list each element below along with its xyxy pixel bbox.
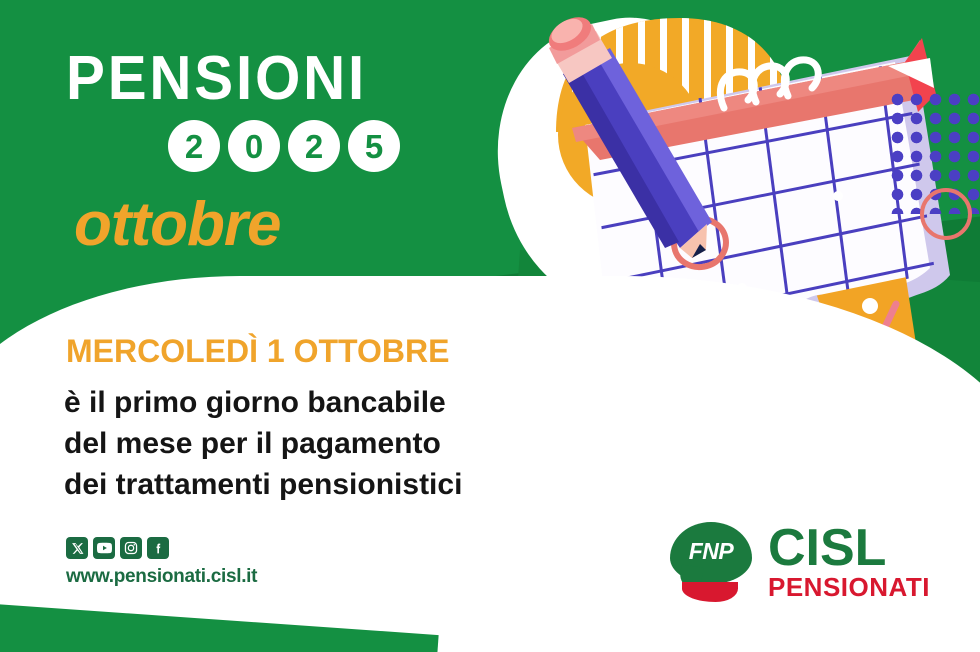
year-badges: 2 0 2 5 (168, 120, 400, 172)
youtube-icon[interactable] (93, 537, 115, 559)
body-line: è il primo giorno bancabile (64, 382, 462, 423)
headline-date: MERCOLEDÌ 1 OTTOBRE (66, 333, 449, 370)
year-digit: 2 (168, 120, 220, 172)
coral-ring (920, 188, 972, 240)
body-line: dei trattamenti pensionistici (64, 464, 462, 505)
page-title: PENSIONI (66, 48, 367, 110)
year-digit: 0 (228, 120, 280, 172)
cisl-subtitle: PENSIONATI (768, 573, 930, 602)
x-twitter-icon[interactable] (66, 537, 88, 559)
month-subtitle: ottobre (74, 194, 281, 256)
year-digit: 2 (288, 120, 340, 172)
facebook-icon[interactable] (147, 537, 169, 559)
body-line: del mese per il pagamento (64, 423, 462, 464)
fnp-cisl-logo: FNP CISL PENSIONATI (668, 522, 930, 604)
instagram-icon[interactable] (120, 537, 142, 559)
fnp-mark: FNP (668, 522, 754, 604)
pensioni-ottobre-poster: PENSIONI 2 0 2 5 ottobre MERCOLEDÌ 1 OTT… (0, 0, 980, 652)
year-digit: 5 (348, 120, 400, 172)
fnp-label: FNP (668, 538, 754, 565)
cisl-wordmark: CISL PENSIONATI (768, 525, 930, 601)
website-url[interactable]: www.pensionati.cisl.it (66, 566, 257, 588)
fnp-red-swoosh (682, 582, 738, 602)
body-copy: è il primo giorno bancabile del mese per… (64, 382, 462, 505)
cisl-name: CISL (768, 525, 930, 573)
social-links (66, 537, 169, 559)
